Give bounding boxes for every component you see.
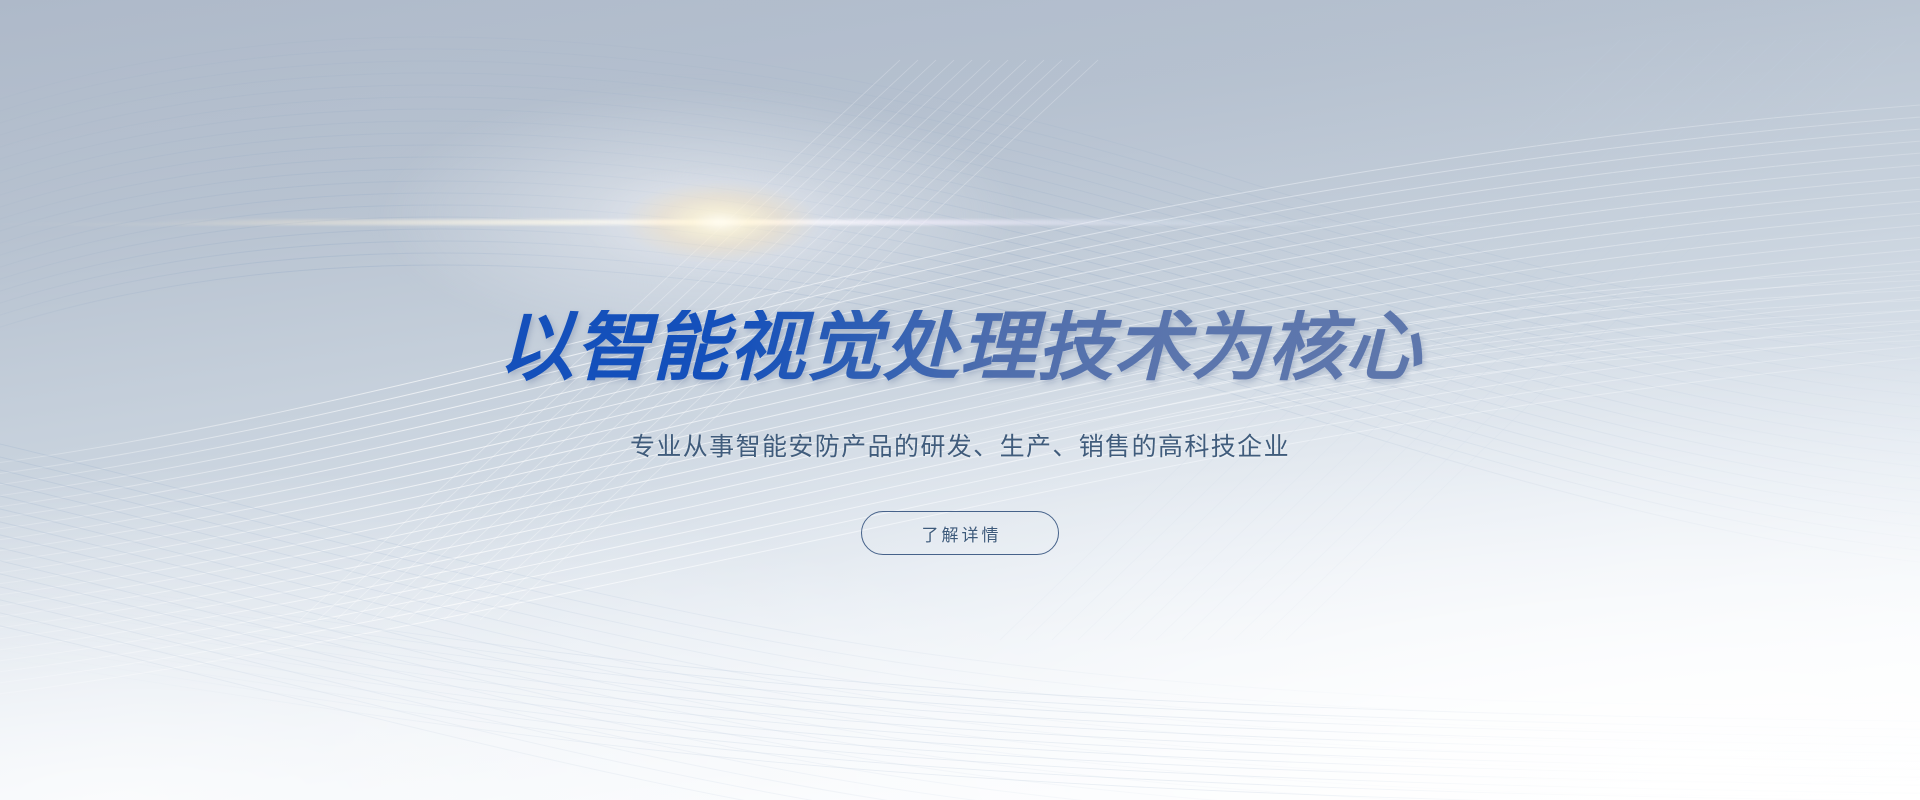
- hero-banner: 以智能视觉处理技术为核心 专业从事智能安防产品的研发、生产、销售的高科技企业 了…: [0, 0, 1920, 800]
- hero-headline: 以智能视觉处理技术为核心: [0, 310, 1920, 386]
- hero-subheadline: 专业从事智能安防产品的研发、生产、销售的高科技企业: [0, 431, 1920, 464]
- learn-more-button[interactable]: 了解详情: [861, 511, 1059, 555]
- hero-content: 以智能视觉处理技术为核心 专业从事智能安防产品的研发、生产、销售的高科技企业 了…: [0, 0, 1920, 800]
- hero-cta-container: 了解详情: [0, 511, 1920, 555]
